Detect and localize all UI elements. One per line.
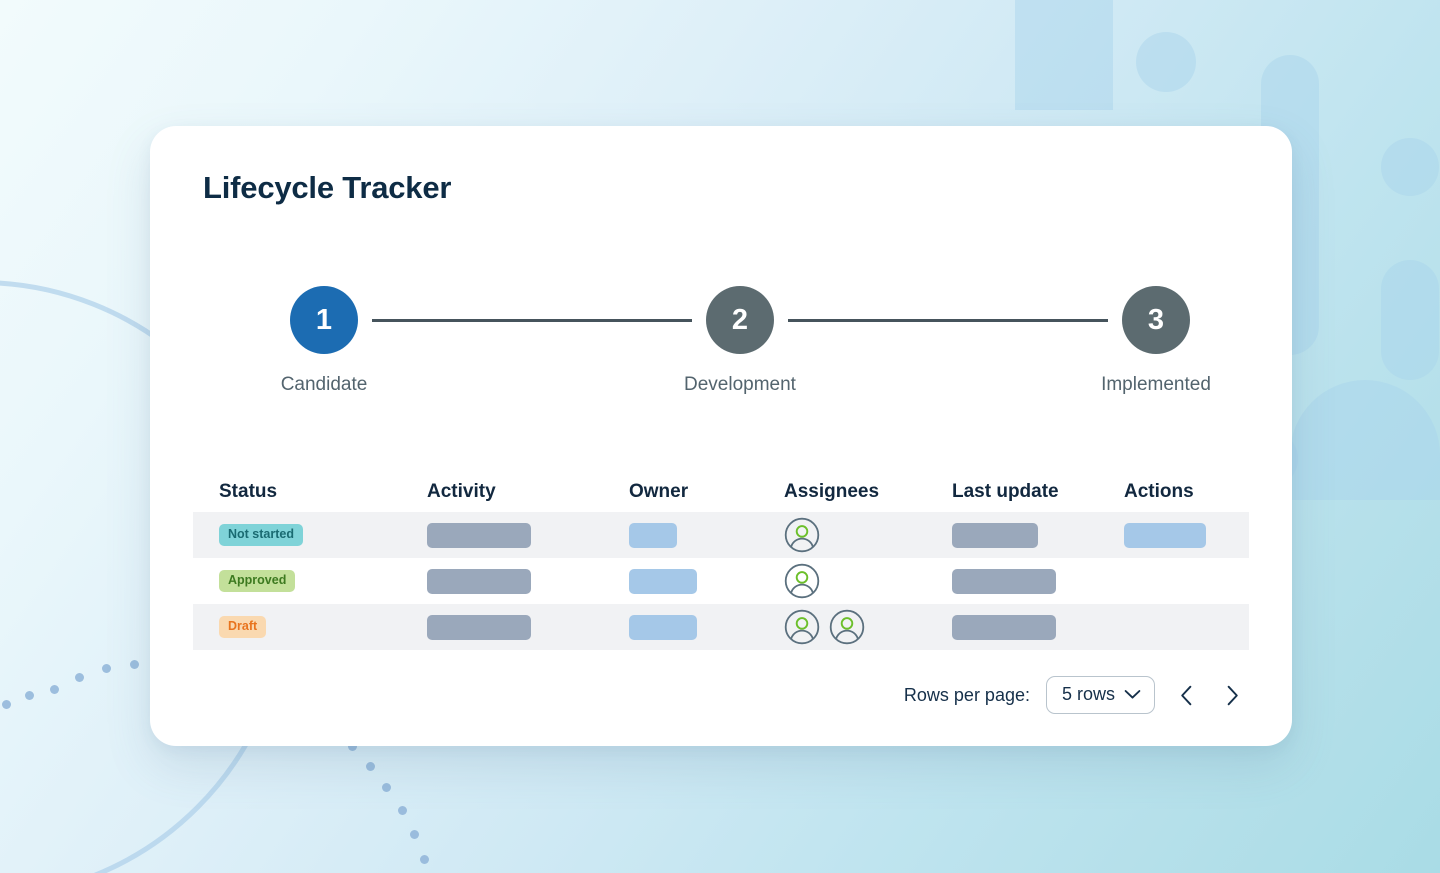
app-background: Lifecycle Tracker 1 2 3 Candidate Develo… bbox=[0, 0, 1440, 873]
column-header-status: Status bbox=[193, 481, 401, 503]
cell-owner bbox=[603, 523, 758, 548]
stepper-track: 1 2 3 bbox=[290, 286, 1190, 354]
cell-activity bbox=[401, 615, 603, 640]
cell-activity bbox=[401, 569, 603, 594]
next-page-button[interactable] bbox=[1217, 680, 1247, 710]
user-avatar-icon[interactable] bbox=[784, 609, 820, 645]
action-placeholder-bar[interactable] bbox=[1124, 523, 1206, 548]
step-label-implemented: Implemented bbox=[1041, 374, 1271, 396]
pagination-controls: Rows per page: 5 rows bbox=[904, 676, 1247, 714]
activity-placeholder-bar bbox=[427, 523, 531, 548]
cell-assignees bbox=[758, 517, 926, 553]
cell-assignees bbox=[758, 563, 926, 599]
bg-dot bbox=[50, 685, 59, 694]
table-row[interactable]: Approved bbox=[193, 558, 1249, 604]
cell-activity bbox=[401, 523, 603, 548]
status-badge: Draft bbox=[219, 616, 266, 638]
table-row[interactable]: Draft bbox=[193, 604, 1249, 650]
bg-circle-2 bbox=[1381, 138, 1439, 196]
bg-pill-3 bbox=[1381, 260, 1439, 380]
bg-dot bbox=[382, 783, 391, 792]
assignee-avatar-group bbox=[784, 609, 926, 645]
step-connector-1 bbox=[372, 319, 692, 322]
owner-placeholder-bar bbox=[629, 569, 697, 594]
last-update-placeholder-bar bbox=[952, 569, 1056, 594]
activity-placeholder-bar bbox=[427, 569, 531, 594]
step-number-2: 2 bbox=[732, 304, 748, 337]
assignee-avatar-group bbox=[784, 517, 926, 553]
column-header-activity: Activity bbox=[401, 481, 603, 503]
bg-dot bbox=[25, 691, 34, 700]
user-avatar-icon[interactable] bbox=[829, 609, 865, 645]
previous-page-button[interactable] bbox=[1171, 680, 1201, 710]
step-label-candidate: Candidate bbox=[209, 374, 439, 396]
column-header-assignees: Assignees bbox=[758, 481, 926, 503]
cell-status: Draft bbox=[193, 616, 401, 638]
cell-last-update bbox=[926, 569, 1098, 594]
bg-dot bbox=[420, 855, 429, 864]
column-header-actions: Actions bbox=[1098, 481, 1249, 503]
status-badge: Approved bbox=[219, 570, 295, 592]
owner-placeholder-bar bbox=[629, 523, 677, 548]
owner-placeholder-bar bbox=[629, 615, 697, 640]
chevron-left-icon bbox=[1180, 685, 1193, 706]
cell-status: Approved bbox=[193, 570, 401, 592]
last-update-placeholder-bar bbox=[952, 523, 1038, 548]
user-avatar-icon[interactable] bbox=[784, 517, 820, 553]
bg-dot bbox=[75, 673, 84, 682]
cell-last-update bbox=[926, 615, 1098, 640]
bg-dot bbox=[130, 660, 139, 669]
column-header-owner: Owner bbox=[603, 481, 758, 503]
lifecycle-table: Status Activity Owner Assignees Last upd… bbox=[193, 472, 1249, 650]
table-header-row: Status Activity Owner Assignees Last upd… bbox=[193, 472, 1249, 512]
table-row[interactable]: Not started bbox=[193, 512, 1249, 558]
cell-owner bbox=[603, 569, 758, 594]
assignee-avatar-group bbox=[784, 563, 926, 599]
chevron-right-icon bbox=[1226, 685, 1239, 706]
bg-pill-1 bbox=[1015, 0, 1113, 110]
step-node-1[interactable]: 1 bbox=[290, 286, 358, 354]
bg-pill-4 bbox=[1290, 380, 1440, 500]
bg-dot bbox=[366, 762, 375, 771]
cell-status: Not started bbox=[193, 524, 401, 546]
user-avatar-icon[interactable] bbox=[784, 563, 820, 599]
last-update-placeholder-bar bbox=[952, 615, 1056, 640]
bg-dot bbox=[2, 700, 11, 709]
activity-placeholder-bar bbox=[427, 615, 531, 640]
lifecycle-tracker-card: Lifecycle Tracker 1 2 3 Candidate Develo… bbox=[150, 126, 1292, 746]
bg-dot bbox=[102, 664, 111, 673]
bg-dot bbox=[398, 806, 407, 815]
step-number-3: 3 bbox=[1148, 304, 1164, 337]
chevron-down-icon bbox=[1124, 689, 1141, 700]
bg-dot bbox=[410, 830, 419, 839]
step-number-1: 1 bbox=[316, 304, 332, 337]
stepper-labels: Candidate Development Implemented bbox=[290, 374, 1190, 396]
cell-actions bbox=[1098, 523, 1249, 548]
table-bottom-divider bbox=[193, 660, 1249, 661]
rows-per-page-select[interactable]: 5 rows bbox=[1046, 676, 1155, 714]
lifecycle-stepper: 1 2 3 Candidate Development Implemented bbox=[290, 286, 1190, 426]
status-badge: Not started bbox=[219, 524, 303, 546]
step-node-3[interactable]: 3 bbox=[1122, 286, 1190, 354]
step-label-development: Development bbox=[625, 374, 855, 396]
page-title: Lifecycle Tracker bbox=[203, 170, 451, 206]
rows-per-page-value: 5 rows bbox=[1062, 684, 1115, 705]
cell-assignees bbox=[758, 609, 926, 645]
rows-per-page-label: Rows per page: bbox=[904, 685, 1030, 706]
cell-last-update bbox=[926, 523, 1098, 548]
bg-circle-1 bbox=[1136, 32, 1196, 92]
column-header-last-update: Last update bbox=[926, 481, 1098, 503]
cell-owner bbox=[603, 615, 758, 640]
step-node-2[interactable]: 2 bbox=[706, 286, 774, 354]
step-connector-2 bbox=[788, 319, 1108, 322]
